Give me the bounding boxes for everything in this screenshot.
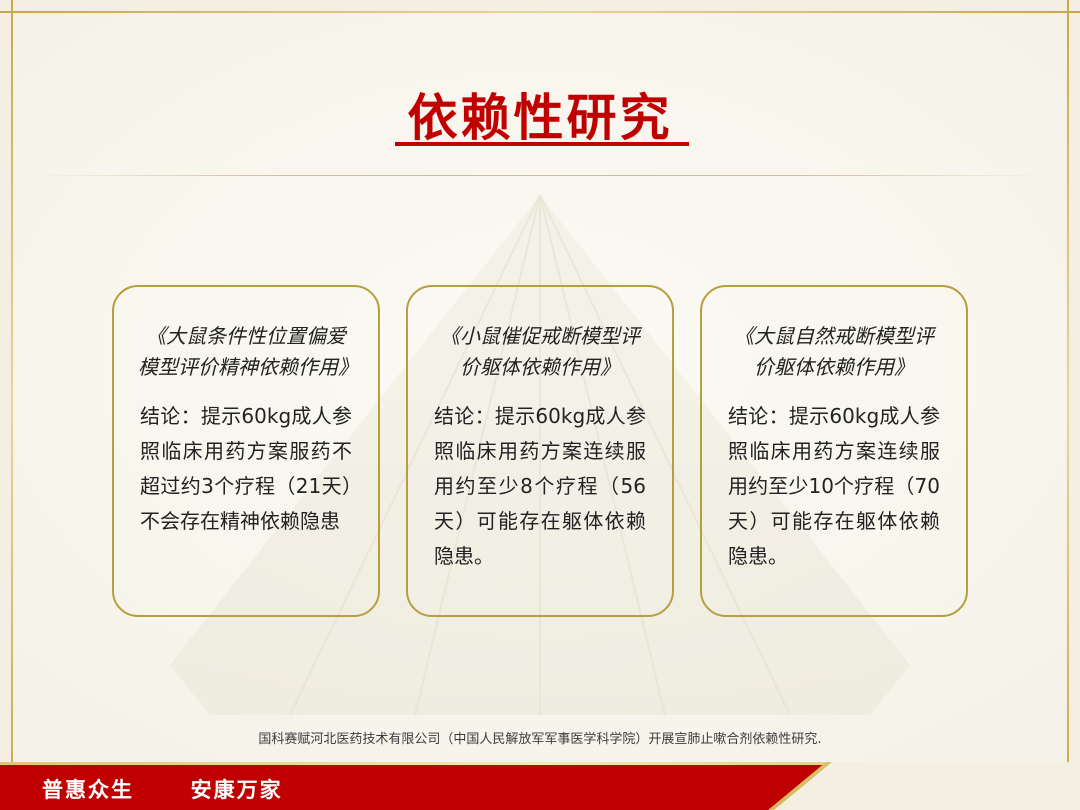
slogan-right: 安康万家 (191, 778, 283, 802)
card-mouse-withdrawal-model: 《小鼠催促戒断模型评价躯体依赖作用》 结论：提示60kg成人参照临床用药方案连续… (406, 285, 674, 617)
card-body: 结论：提示60kg成人参照临床用药方案连续服用约至少10个疗程（70天）可能存在… (726, 399, 942, 574)
bottom-bar: 普惠众生 安康万家 (0, 762, 1080, 810)
page-title: 依赖性研究 (0, 78, 1080, 150)
card-heading: 《大鼠自然戒断模型评价躯体依赖作用》 (726, 321, 942, 383)
slogan-left: 普惠众生 (42, 778, 134, 802)
card-heading: 《小鼠催促戒断模型评价躯体依赖作用》 (432, 321, 648, 383)
card-cpp-model: 《大鼠条件性位置偏爱模型评价精神依赖作用》 结论：提示60kg成人参照临床用药方… (112, 285, 380, 617)
card-body: 结论：提示60kg成人参照临床用药方案服药不超过约3个疗程（21天）不会存在精神… (138, 399, 354, 539)
footnote: 国科赛赋河北医药技术有限公司（中国人民解放军军事医学科学院）开展宣肺止嗽合剂依赖… (0, 728, 1080, 747)
title-underline (395, 142, 689, 146)
card-heading: 《大鼠条件性位置偏爱模型评价精神依赖作用》 (138, 321, 354, 383)
header-divider (30, 175, 1050, 176)
card-rat-natural-withdrawal-model: 《大鼠自然戒断模型评价躯体依赖作用》 结论：提示60kg成人参照临床用药方案连续… (700, 285, 968, 617)
gold-line-top (0, 11, 1080, 13)
card-body: 结论：提示60kg成人参照临床用药方案连续服用约至少8个疗程（56天）可能存在躯… (432, 399, 648, 574)
bottom-bar-cut (770, 762, 1080, 810)
slogan: 普惠众生 安康万家 (42, 774, 283, 804)
slide: 依赖性研究 《大鼠条件性位置偏爱模型评价精神依赖作用》 结论：提示60kg成人参… (0, 0, 1080, 810)
card-group: 《大鼠条件性位置偏爱模型评价精神依赖作用》 结论：提示60kg成人参照临床用药方… (0, 285, 1080, 620)
